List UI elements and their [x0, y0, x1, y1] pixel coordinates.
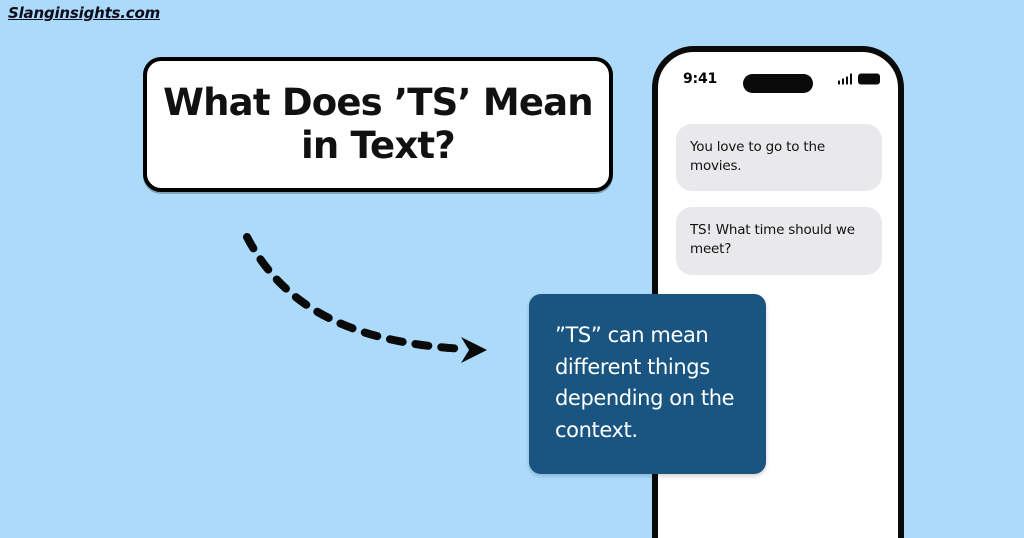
phone-status-bar: 9:41: [658, 52, 898, 100]
callout-text: ”TS” can mean different things depending…: [555, 320, 744, 446]
signal-bars-icon: [838, 74, 853, 85]
infographic-canvas: Slanginsights.com What Does ’TS’ Mean in…: [0, 0, 1024, 538]
dashed-curved-arrow-icon: [225, 215, 515, 375]
battery-full-icon: [858, 74, 880, 85]
message-bubble: TS! What time should we meet?: [676, 207, 882, 274]
explanation-callout: ”TS” can mean different things depending…: [529, 294, 766, 474]
message-bubble: You love to go to the movies.: [676, 124, 882, 191]
page-title: What Does ’TS’ Mean in Text?: [149, 82, 607, 168]
status-indicators: [838, 74, 881, 85]
dynamic-island: [743, 74, 813, 93]
title-card: What Does ’TS’ Mean in Text?: [143, 57, 613, 192]
message-thread: You love to go to the movies. TS! What t…: [658, 100, 898, 275]
status-time: 9:41: [683, 71, 717, 87]
site-watermark: Slanginsights.com: [8, 4, 160, 22]
